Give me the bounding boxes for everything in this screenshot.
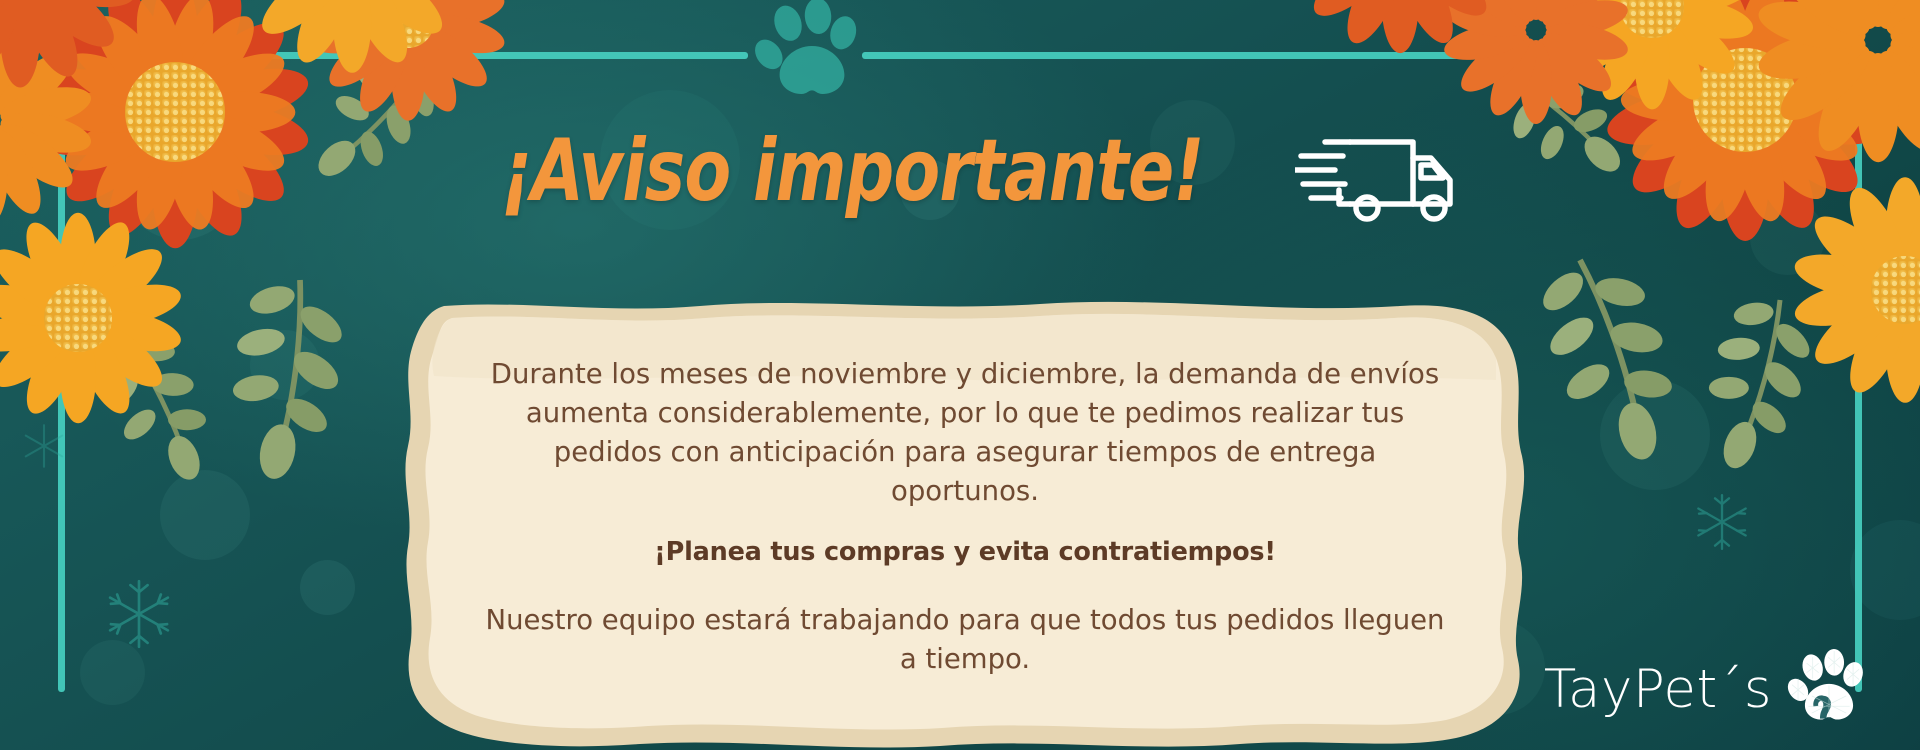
paw-print-icon <box>1786 646 1872 732</box>
bokeh-circle <box>80 640 145 705</box>
daisy-flower-decoration <box>238 0 467 73</box>
announcement-card-content: Durante los meses de noviembre y diciemb… <box>400 300 1530 750</box>
paw-watermark-top-center <box>752 0 872 112</box>
frame-line-top-right <box>862 52 1862 59</box>
page-title: ¡Aviso importante! <box>501 128 1204 214</box>
bokeh-circle <box>250 330 320 400</box>
bokeh-circle <box>1600 380 1710 490</box>
brand-name: TayPet´s <box>1544 663 1772 716</box>
announcement-card: Durante los meses de noviembre y diciemb… <box>400 300 1530 750</box>
daisy-flower-decoration <box>308 0 508 121</box>
delivery-truck-icon <box>1295 124 1467 224</box>
announcement-paragraph-primary: Durante los meses de noviembre y diciemb… <box>478 355 1452 511</box>
frame-line-top-left <box>58 52 748 59</box>
announcement-emphasis-line: ¡Planea tus compras y evita contratiempo… <box>654 537 1276 567</box>
snowflake-decoration <box>100 575 178 653</box>
daisy-flower-decoration <box>0 213 185 424</box>
daisy-flower-decoration <box>1290 0 1509 53</box>
brand-logo[interactable]: TayPet´s <box>1544 646 1872 732</box>
snowflake-decoration <box>1690 490 1754 554</box>
bokeh-circle <box>160 470 250 560</box>
daisy-flower-decoration <box>1441 0 1631 124</box>
bokeh-circle <box>300 560 355 615</box>
announcement-paragraph-secondary: Nuestro equipo estará trabajando para qu… <box>478 601 1452 679</box>
daisy-flower-decoration <box>0 0 139 88</box>
promotional-banner: ¡Aviso importante! <box>0 0 1920 750</box>
headline-row: ¡Aviso importante! <box>0 118 1920 224</box>
